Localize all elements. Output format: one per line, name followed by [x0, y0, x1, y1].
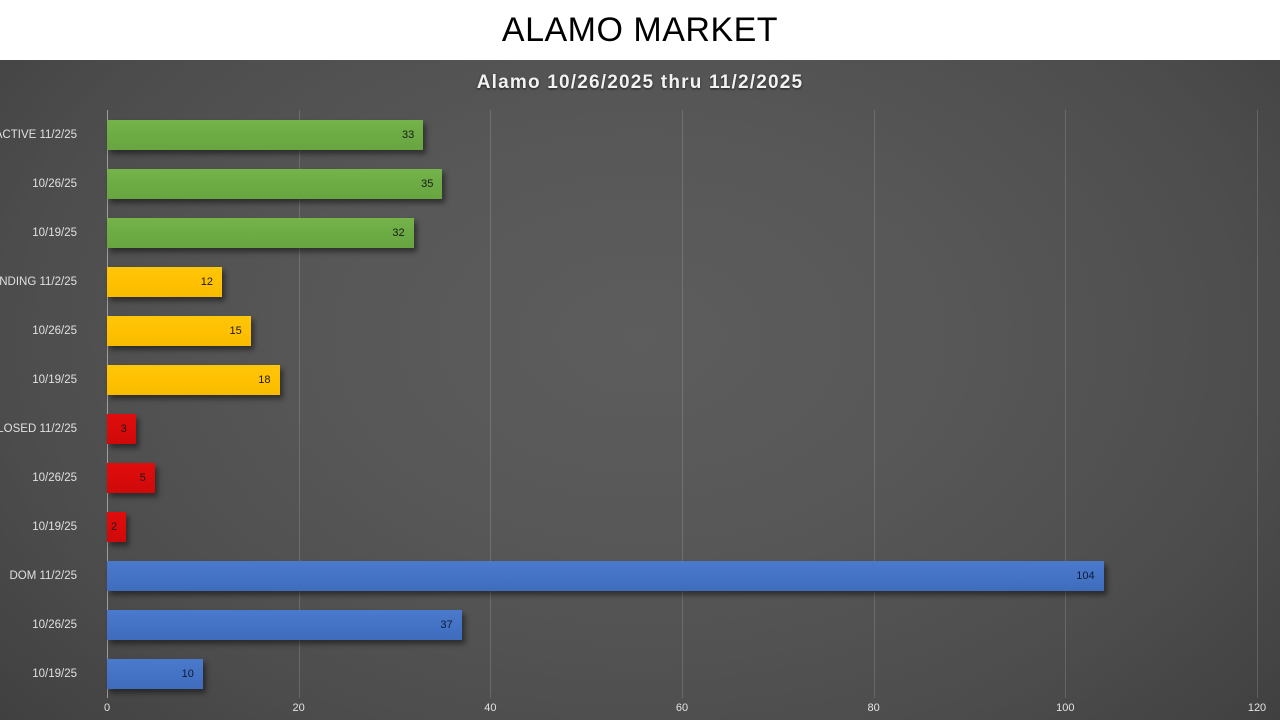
chart-row: 10/26/2537 — [107, 610, 1257, 640]
chart-row: 10/19/2510 — [107, 659, 1257, 689]
category-label: ACTIVE 11/2/25 — [0, 129, 77, 141]
chart-row: PENDING 11/2/2512 — [107, 267, 1257, 297]
bar-value-label: 32 — [392, 227, 404, 239]
category-label: 10/19/25 — [0, 668, 77, 680]
bar[interactable]: 5 — [107, 463, 155, 493]
bar[interactable]: 15 — [107, 316, 251, 346]
category-label: 10/26/25 — [0, 472, 77, 484]
x-axis-tick-label: 120 — [1248, 702, 1266, 714]
bar-value-label: 33 — [402, 129, 414, 141]
bar[interactable]: 18 — [107, 365, 280, 395]
chart-page: ALAMO MARKET Alamo 10/26/2025 thru 11/2/… — [0, 0, 1280, 720]
bar-value-label: 18 — [258, 374, 270, 386]
chart-row: 10/26/2515 — [107, 316, 1257, 346]
bar[interactable]: 10 — [107, 659, 203, 689]
chart-row: 10/26/2535 — [107, 169, 1257, 199]
category-label: 10/19/25 — [0, 227, 77, 239]
x-axis-tick-label: 100 — [1056, 702, 1074, 714]
gridline — [1257, 110, 1258, 698]
bar-value-label: 12 — [201, 276, 213, 288]
bar-value-label: 10 — [182, 668, 194, 680]
x-axis-tick-label: 40 — [484, 702, 496, 714]
chart-row: DOM 11/2/25104 — [107, 561, 1257, 591]
bar-value-label: 35 — [421, 178, 433, 190]
bar-value-label: 2 — [111, 521, 117, 533]
bar-value-label: 5 — [140, 472, 146, 484]
bar-value-label: 104 — [1076, 570, 1094, 582]
x-axis-tick-label: 20 — [293, 702, 305, 714]
chart-canvas: Alamo 10/26/2025 thru 11/2/2025 ACTIVE 1… — [0, 60, 1280, 720]
chart-row: 10/19/2518 — [107, 365, 1257, 395]
chart-row: CLOSED 11/2/253 — [107, 414, 1257, 444]
category-label: 10/26/25 — [0, 325, 77, 337]
bar[interactable]: 2 — [107, 512, 126, 542]
page-title: ALAMO MARKET — [502, 13, 778, 47]
bar[interactable]: 35 — [107, 169, 442, 199]
chart-row: 10/19/2532 — [107, 218, 1257, 248]
bar[interactable]: 37 — [107, 610, 462, 640]
bar[interactable]: 12 — [107, 267, 222, 297]
x-axis-tick-label: 0 — [104, 702, 110, 714]
chart-row: ACTIVE 11/2/2533 — [107, 120, 1257, 150]
category-label: 10/26/25 — [0, 178, 77, 190]
chart-row: 10/26/255 — [107, 463, 1257, 493]
bar-value-label: 15 — [230, 325, 242, 337]
bar[interactable]: 104 — [107, 561, 1104, 591]
bar-value-label: 3 — [121, 423, 127, 435]
bar[interactable]: 32 — [107, 218, 414, 248]
chart-row: 10/19/252 — [107, 512, 1257, 542]
category-label: PENDING 11/2/25 — [0, 276, 77, 288]
bar[interactable]: 3 — [107, 414, 136, 444]
plot-area: ACTIVE 11/2/253310/26/253510/19/2532PEND… — [107, 110, 1257, 698]
x-axis: 020406080100120 — [107, 698, 1257, 720]
x-axis-tick-label: 80 — [868, 702, 880, 714]
bar-value-label: 37 — [440, 619, 452, 631]
category-label: 10/19/25 — [0, 374, 77, 386]
chart-subtitle: Alamo 10/26/2025 thru 11/2/2025 — [0, 72, 1280, 94]
bar[interactable]: 33 — [107, 120, 423, 150]
category-label: DOM 11/2/25 — [0, 570, 77, 582]
category-label: CLOSED 11/2/25 — [0, 423, 77, 435]
x-axis-tick-label: 60 — [676, 702, 688, 714]
category-label: 10/19/25 — [0, 521, 77, 533]
category-label: 10/26/25 — [0, 619, 77, 631]
header-band: ALAMO MARKET — [0, 0, 1280, 60]
